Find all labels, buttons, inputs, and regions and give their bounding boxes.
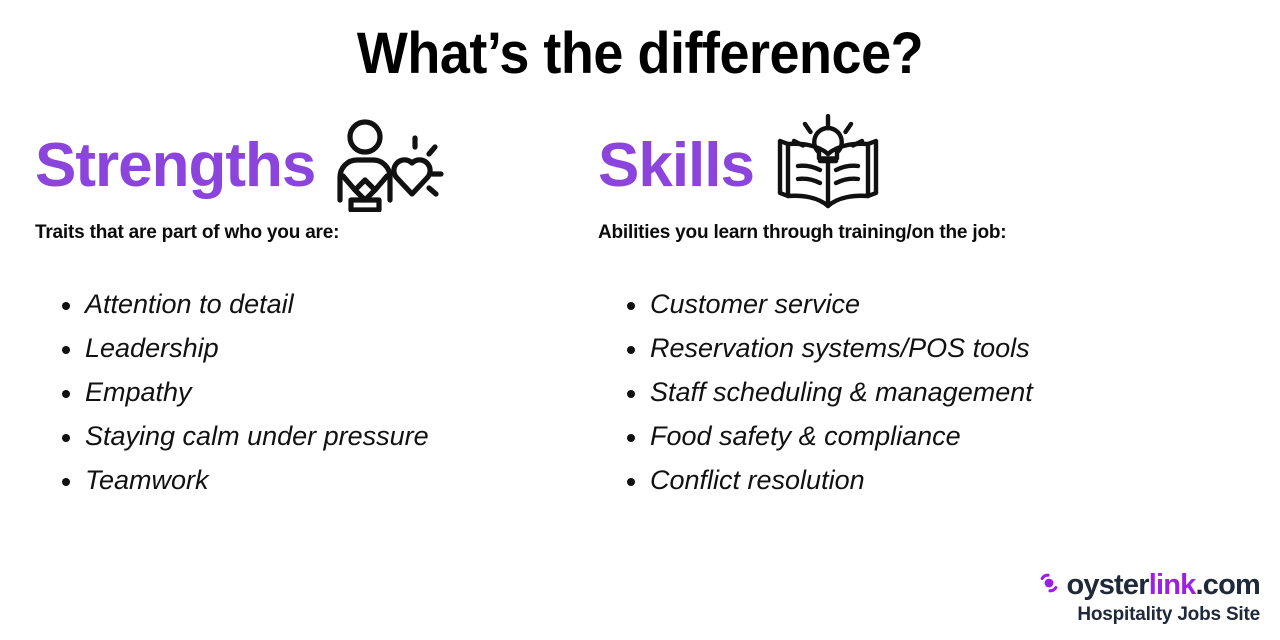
slide-canvas: What’s the difference? Strengths (0, 0, 1280, 640)
logo-word-com: .com (1196, 569, 1261, 601)
strengths-list: Attention to detail Leadership Empathy S… (35, 282, 575, 502)
list-item: Conflict resolution (598, 458, 1218, 502)
strengths-heading: Strengths (35, 135, 315, 197)
list-item: Customer service (598, 282, 1218, 326)
oysterlink-logo[interactable]: oysterlink.com Hospitality Jobs Site (1037, 571, 1260, 626)
list-item: Teamwork (35, 458, 575, 502)
strengths-subheading: Traits that are part of who you are: (35, 222, 575, 244)
skills-list: Customer service Reservation systems/POS… (598, 282, 1218, 502)
logo-tagline: Hospitality Jobs Site (1037, 604, 1260, 626)
skills-heading-row: Skills (598, 118, 1218, 214)
person-hugging-heart-icon (329, 116, 447, 217)
list-item: Staying calm under pressure (35, 414, 575, 458)
column-strengths: Strengths (35, 118, 575, 502)
strengths-heading-row: Strengths (35, 118, 575, 214)
list-item: Leadership (35, 326, 575, 370)
list-item: Attention to detail (35, 282, 575, 326)
logo-wordmark-row: oysterlink.com (1037, 571, 1260, 600)
page-title: What’s the difference? (45, 22, 1235, 86)
list-item: Reservation systems/POS tools (598, 326, 1218, 370)
logo-word-oyster: oyster (1066, 569, 1148, 601)
list-item: Staff scheduling & management (598, 370, 1218, 414)
skills-subheading: Abilities you learn through training/on … (598, 222, 1218, 244)
list-item: Food safety & compliance (598, 414, 1218, 458)
oyster-pearl-mark-icon (1037, 571, 1061, 600)
open-book-lightbulb-icon (772, 114, 884, 219)
logo-wordmark: oysterlink.com (1066, 571, 1260, 600)
skills-heading: Skills (598, 135, 754, 197)
list-item: Empathy (35, 370, 575, 414)
column-skills: Skills (598, 118, 1218, 502)
logo-word-link: link (1149, 569, 1196, 601)
